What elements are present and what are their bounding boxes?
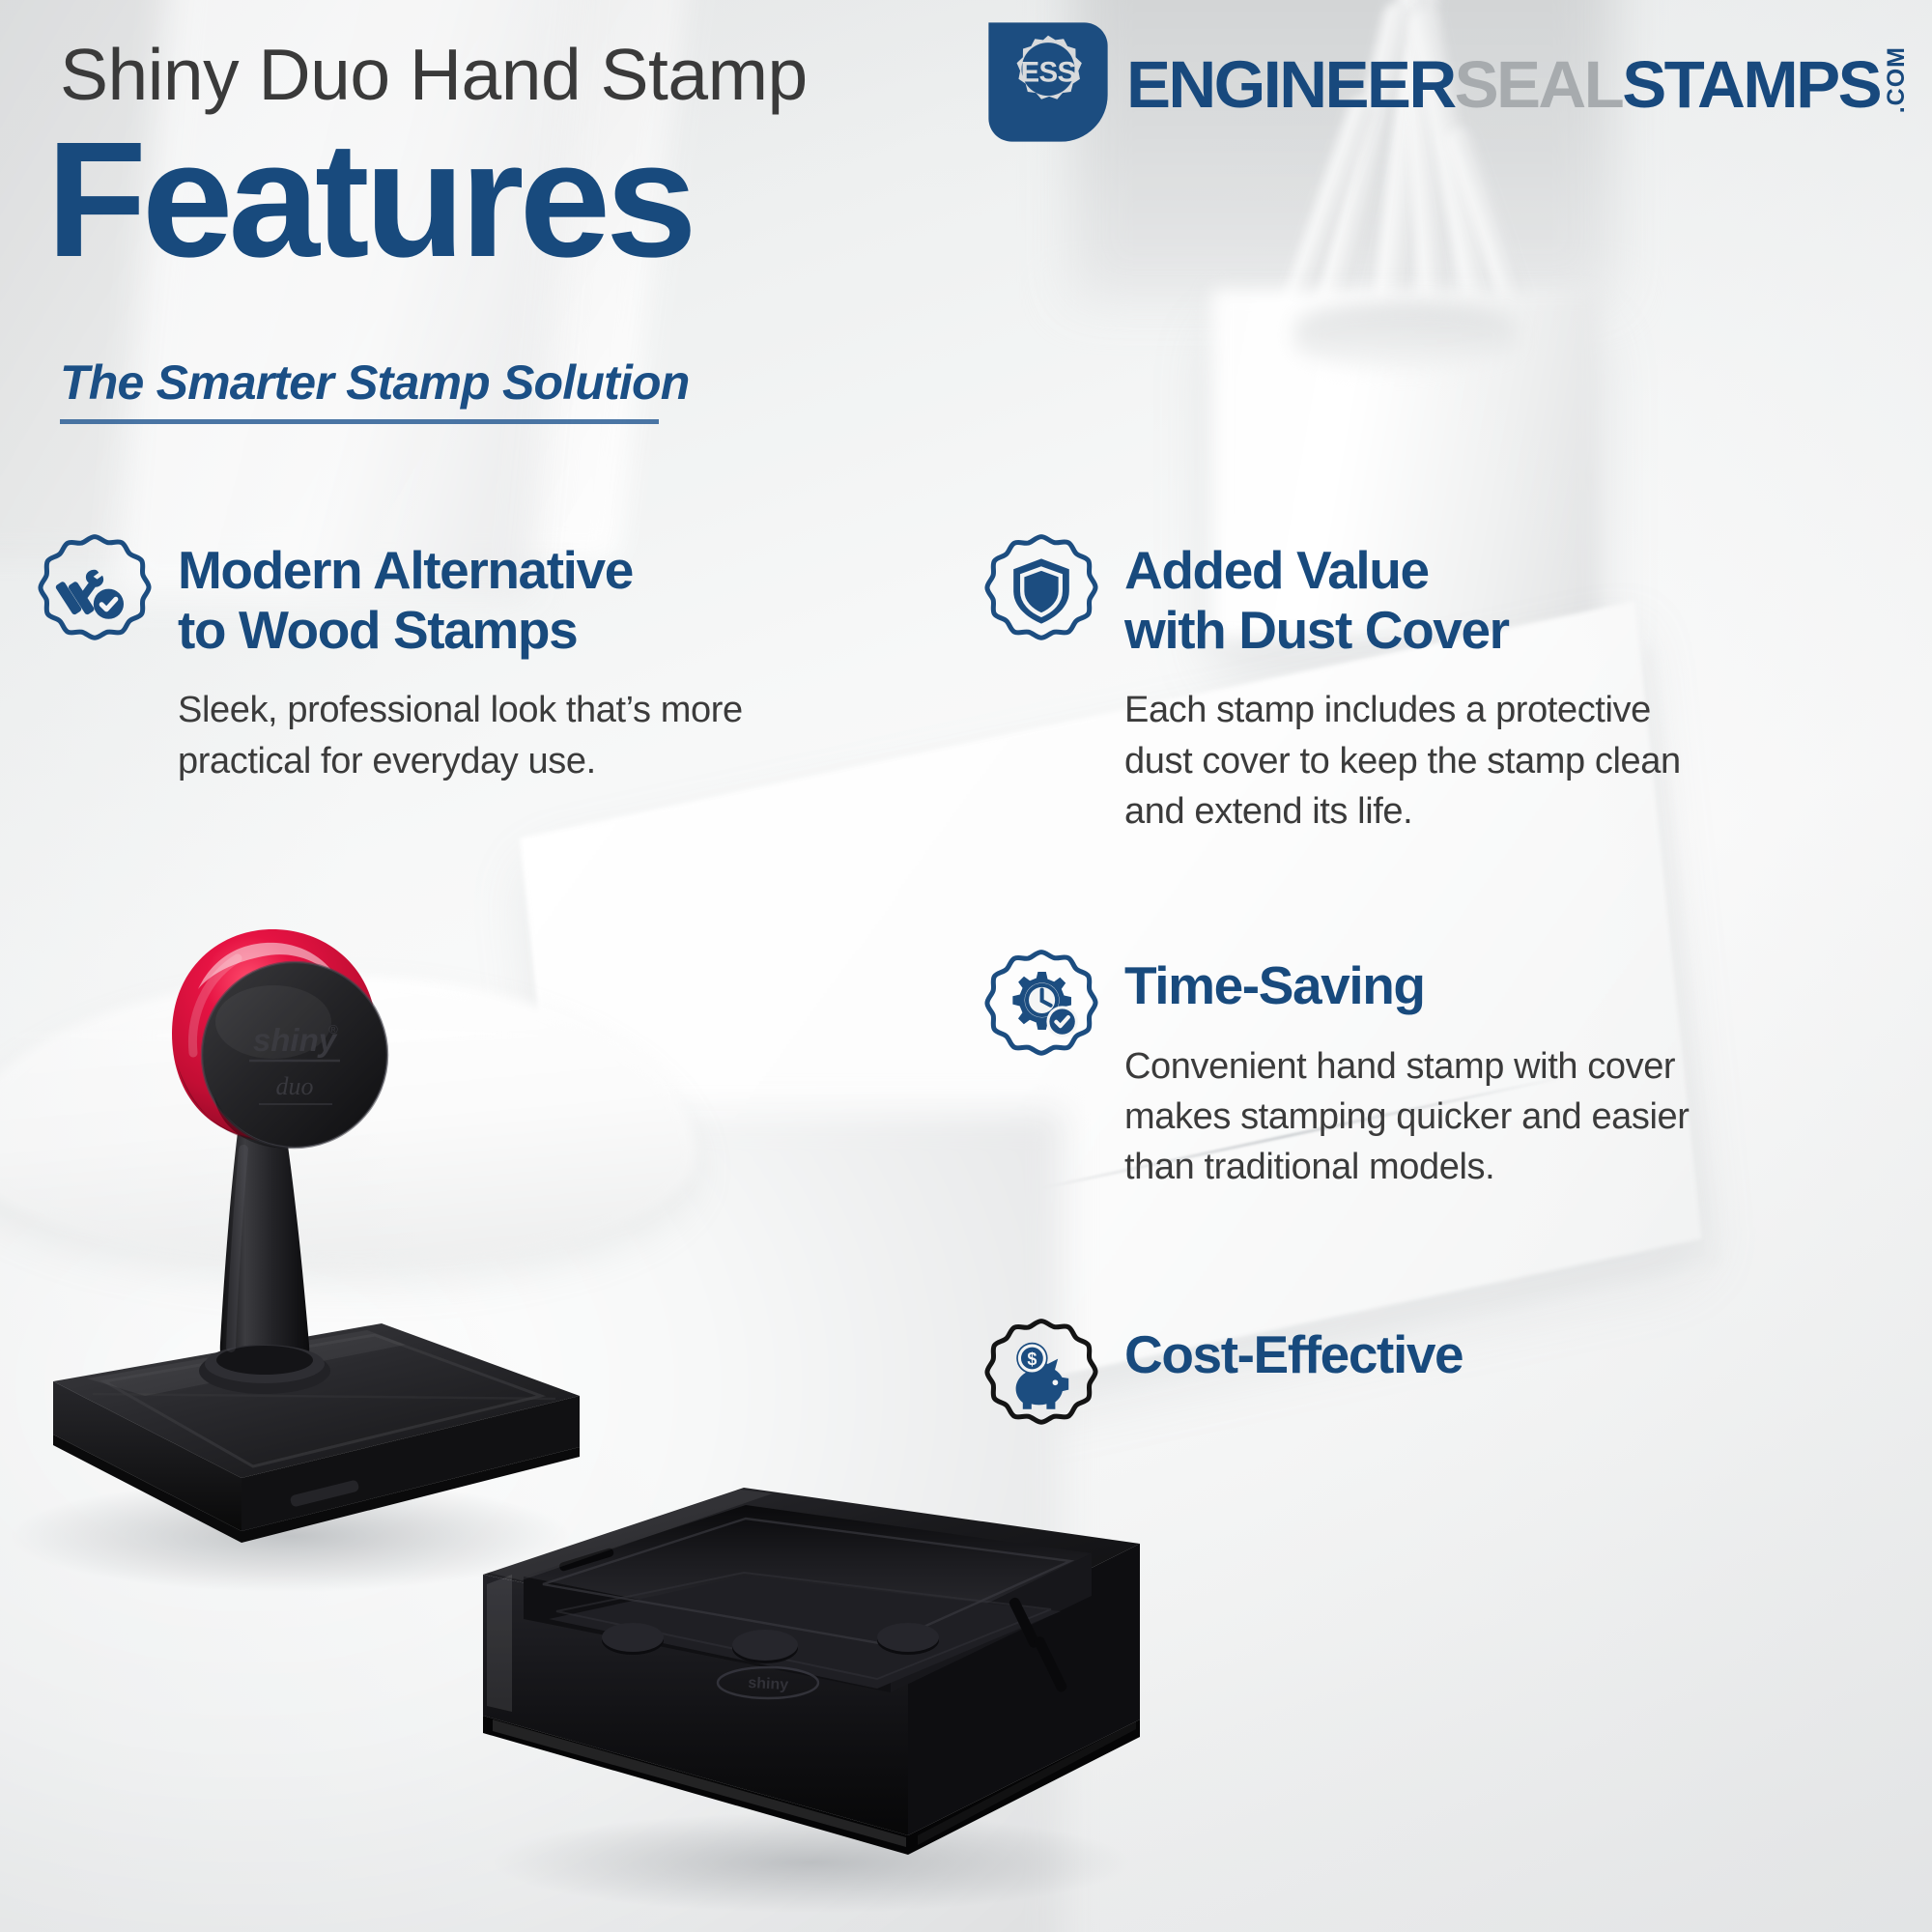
- cover-indent: [602, 1623, 664, 1652]
- bg-pen-holder-rim: [1294, 301, 1517, 369]
- cover-body: shiny: [483, 1488, 1140, 1855]
- feature-description: Sleek, professional look that’s more pra…: [178, 685, 916, 786]
- cover-indent: [877, 1623, 939, 1652]
- piggy-bank-badge-icon: $: [983, 1318, 1099, 1434]
- subtitle-underline: [60, 419, 659, 424]
- product-dust-cover-image: shiny: [454, 1430, 1169, 1913]
- feature-heading: Cost-Effective: [1124, 1325, 1891, 1385]
- feature-heading: Modern Alternative to Wood Stamps: [178, 541, 916, 660]
- feature-heading: Added Value with Dust Cover: [1124, 541, 1891, 660]
- cover-shadow: [493, 1812, 1130, 1913]
- shield-badge-icon: [983, 533, 1099, 649]
- feature-body: Cost-Effective: [1124, 1325, 1891, 1410]
- subtitle-block: The Smarter Stamp Solution: [60, 355, 690, 424]
- svg-text:shiny: shiny: [748, 1675, 789, 1693]
- ess-shield-gear-icon: ESS: [983, 17, 1113, 147]
- feature-item-cost-effective: $ Cost-Effective: [983, 1325, 1891, 1434]
- cover-indent: [732, 1630, 798, 1661]
- feature-description: Each stamp includes a protective dust co…: [1124, 685, 1891, 837]
- feature-item-added-value: Added Value with Dust Cover Each stamp i…: [983, 541, 1891, 838]
- logo-word-engineer: ENGINEER: [1126, 51, 1455, 118]
- feature-body: Added Value with Dust Cover Each stamp i…: [1124, 541, 1891, 838]
- feature-item-time-saving: Time-Saving Convenient hand stamp with c…: [983, 956, 1891, 1193]
- svg-text:$: $: [1027, 1350, 1037, 1369]
- knob-brand-shiny: shiny: [253, 1022, 338, 1058]
- logo-wordmark: ENGINEER SEAL STAMPS .COM: [1126, 46, 1911, 117]
- stamp-neck: [199, 1132, 330, 1394]
- features-heading: Features: [46, 118, 693, 282]
- brand-logo[interactable]: ESS ENGINEER SEAL STAMPS .COM: [983, 17, 1911, 147]
- infographic-canvas: Shiny Duo Hand Stamp ESS ENGINEER SEAL S…: [0, 0, 1932, 1932]
- bg-pen: [1442, 123, 1594, 497]
- svg-text:®: ®: [328, 1022, 338, 1037]
- gear-clock-check-badge-icon: [983, 949, 1099, 1065]
- knob-brand-duo: duo: [276, 1072, 314, 1100]
- feature-body: Time-Saving Convenient hand stamp with c…: [1124, 956, 1891, 1193]
- feature-description: Convenient hand stamp with cover makes s…: [1124, 1041, 1891, 1193]
- subtitle-text: The Smarter Stamp Solution: [60, 355, 690, 412]
- feature-item-modern-alternative: Modern Alternative to Wood Stamps Sleek,…: [37, 541, 916, 786]
- tools-check-badge-icon: [37, 533, 153, 649]
- feature-heading: Time-Saving: [1124, 956, 1891, 1016]
- logo-word-seal: SEAL: [1455, 51, 1623, 118]
- logo-word-stamps: STAMPS: [1622, 51, 1880, 118]
- page-title: Shiny Duo Hand Stamp: [60, 33, 808, 116]
- feature-body: Modern Alternative to Wood Stamps Sleek,…: [178, 541, 916, 786]
- stamp-cap-disc: shiny ® duo: [202, 962, 387, 1148]
- svg-text:ESS: ESS: [1020, 56, 1075, 88]
- logo-word-dotcom: .COM: [1883, 46, 1911, 113]
